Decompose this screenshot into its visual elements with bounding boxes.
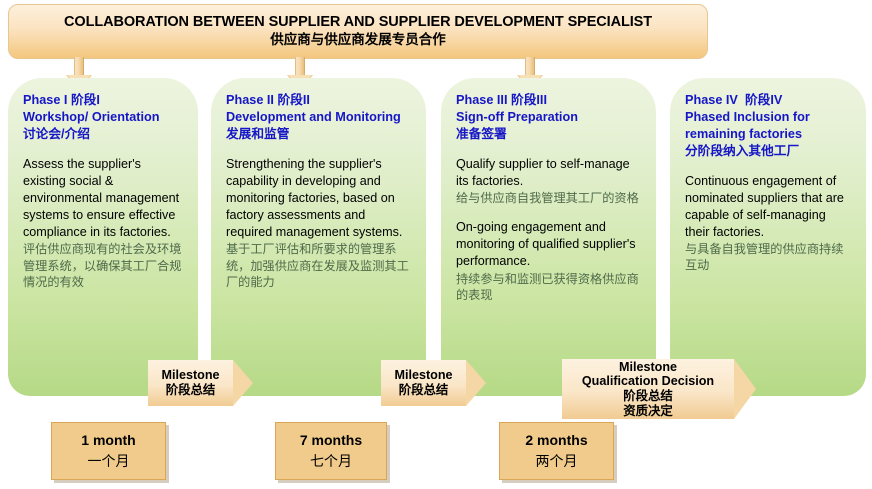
duration-3-zh: 两个月 xyxy=(536,452,578,470)
phase-2-body-zh: 基于工厂评估和所要求的管理系统，加强供应商在发展及监测其工厂的能力 xyxy=(226,241,411,290)
phase-4-title: Phase IV 阶段IV Phased Inclusion for remai… xyxy=(685,92,851,160)
phase-3-body-en: Qualify supplier to self-manage its fact… xyxy=(456,156,641,190)
phase-4-body: Continuous engagement of nominated suppl… xyxy=(685,173,851,274)
milestone-1-arrow-icon xyxy=(233,360,253,406)
phase-1-body: Assess the supplier's existing social & … xyxy=(23,156,183,290)
milestone-2-arrow-icon xyxy=(466,360,486,406)
duration-3-en: 2 months xyxy=(525,432,587,449)
phase-3-body-en-2: On-going engagement and monitoring of qu… xyxy=(456,219,641,270)
phase-3-title-en-1: Phase III xyxy=(456,93,507,107)
phase-3-title: Phase III 阶段III Sign-off Preparation 准备签… xyxy=(456,92,641,143)
phase-box-1: Phase I 阶段I Workshop/ Orientation 讨论会/介绍… xyxy=(8,78,198,396)
milestone-1-label-zh: 阶段总结 xyxy=(166,383,216,398)
phase-1-body-zh: 评估供应商现有的社会及环境管理系统，以确保其工厂合规情况的有效 xyxy=(23,241,183,290)
phase-2-title-zh-2: 发展和监管 xyxy=(226,127,289,141)
phase-2-title-zh-1: 阶段II xyxy=(278,93,310,107)
milestone-2-body: Milestone 阶段总结 xyxy=(381,360,466,406)
phase-1-body-en: Assess the supplier's existing social & … xyxy=(23,156,183,242)
milestone-3-label-en-2: Qualification Decision xyxy=(582,374,714,389)
duration-box-1: 1 month 一个月 xyxy=(51,422,166,480)
duration-1-zh: 一个月 xyxy=(88,452,130,470)
duration-1-en: 1 month xyxy=(81,432,135,449)
phase-box-2: Phase II 阶段II Development and Monitoring… xyxy=(211,78,426,396)
phase-1-title-zh-1: 阶段I xyxy=(71,93,100,107)
milestone-3-label-zh-1: 阶段总结 xyxy=(623,389,673,404)
paragraph-spacer xyxy=(456,206,641,219)
milestone-3-label-zh-2: 资质决定 xyxy=(623,404,673,419)
phase-2-body: Strengthening the supplier's capability … xyxy=(226,156,411,290)
header-banner: COLLABORATION BETWEEN SUPPLIER AND SUPPL… xyxy=(8,4,708,59)
phase-1-title-en-1: Phase I xyxy=(23,93,67,107)
phase-1-title-zh-2: 讨论会/介绍 xyxy=(23,126,183,143)
header-title-english: COLLABORATION BETWEEN SUPPLIER AND SUPPL… xyxy=(64,14,652,31)
phase-3-body-zh-2: 持续参与和监测已获得资格供应商的表现 xyxy=(456,271,641,303)
duration-box-3: 2 months 两个月 xyxy=(499,422,614,480)
phase-3-title-zh-2: 准备签署 xyxy=(456,126,641,143)
milestone-3-arrow-icon xyxy=(734,359,756,419)
phase-3-body-zh: 给与供应商自我管理其工厂的资格 xyxy=(456,190,641,206)
phase-box-4: Phase IV 阶段IV Phased Inclusion for remai… xyxy=(670,78,866,396)
process-flow-diagram: COLLABORATION BETWEEN SUPPLIER AND SUPPL… xyxy=(0,0,872,489)
phase-1-title-en-2: Workshop/ Orientation xyxy=(23,109,183,126)
arrow-shaft xyxy=(74,57,84,76)
milestone-3-body: Milestone Qualification Decision 阶段总结 资质… xyxy=(562,359,734,419)
phase-2-title: Phase II 阶段II Development and Monitoring… xyxy=(226,92,411,143)
duration-2-zh: 七个月 xyxy=(310,452,352,470)
phase-4-title-zh-2: 分阶段纳入其他工厂 xyxy=(685,143,851,160)
phase-3-title-en-2: Sign-off Preparation xyxy=(456,109,641,126)
phase-4-title-en-1: Phase IV xyxy=(685,93,738,107)
milestone-1-body: Milestone 阶段总结 xyxy=(148,360,233,406)
phase-3-title-zh-1: 阶段III xyxy=(511,93,547,107)
arrow-shaft xyxy=(295,57,305,76)
phase-4-title-zh-1: 阶段IV xyxy=(745,93,782,107)
milestone-2-label-zh: 阶段总结 xyxy=(399,383,449,398)
phase-4-body-en: Continuous engagement of nominated suppl… xyxy=(685,173,851,242)
milestone-3-label-en-1: Milestone xyxy=(619,360,677,375)
arrow-shaft xyxy=(525,57,535,76)
phase-1-title: Phase I 阶段I Workshop/ Orientation 讨论会/介绍 xyxy=(23,92,183,143)
phase-3-body: Qualify supplier to self-manage its fact… xyxy=(456,156,641,303)
milestone-1-label-en: Milestone xyxy=(161,368,219,383)
header-title-chinese: 供应商与供应商发展专员合作 xyxy=(270,32,446,49)
milestone-2-label-en: Milestone xyxy=(394,368,452,383)
phase-2-body-en: Strengthening the supplier's capability … xyxy=(226,156,411,242)
duration-box-2: 7 months 七个月 xyxy=(275,422,387,480)
duration-2-en: 7 months xyxy=(300,432,362,449)
phase-2-title-en-1: Phase II xyxy=(226,93,274,107)
phase-2-title-en-2: Development and Monitoring xyxy=(226,110,401,124)
phase-box-3: Phase III 阶段III Sign-off Preparation 准备签… xyxy=(441,78,656,396)
phase-4-title-en-2: Phased Inclusion for remaining factories xyxy=(685,109,851,143)
phase-4-body-zh: 与具备自我管理的供应商持续互动 xyxy=(685,241,851,273)
